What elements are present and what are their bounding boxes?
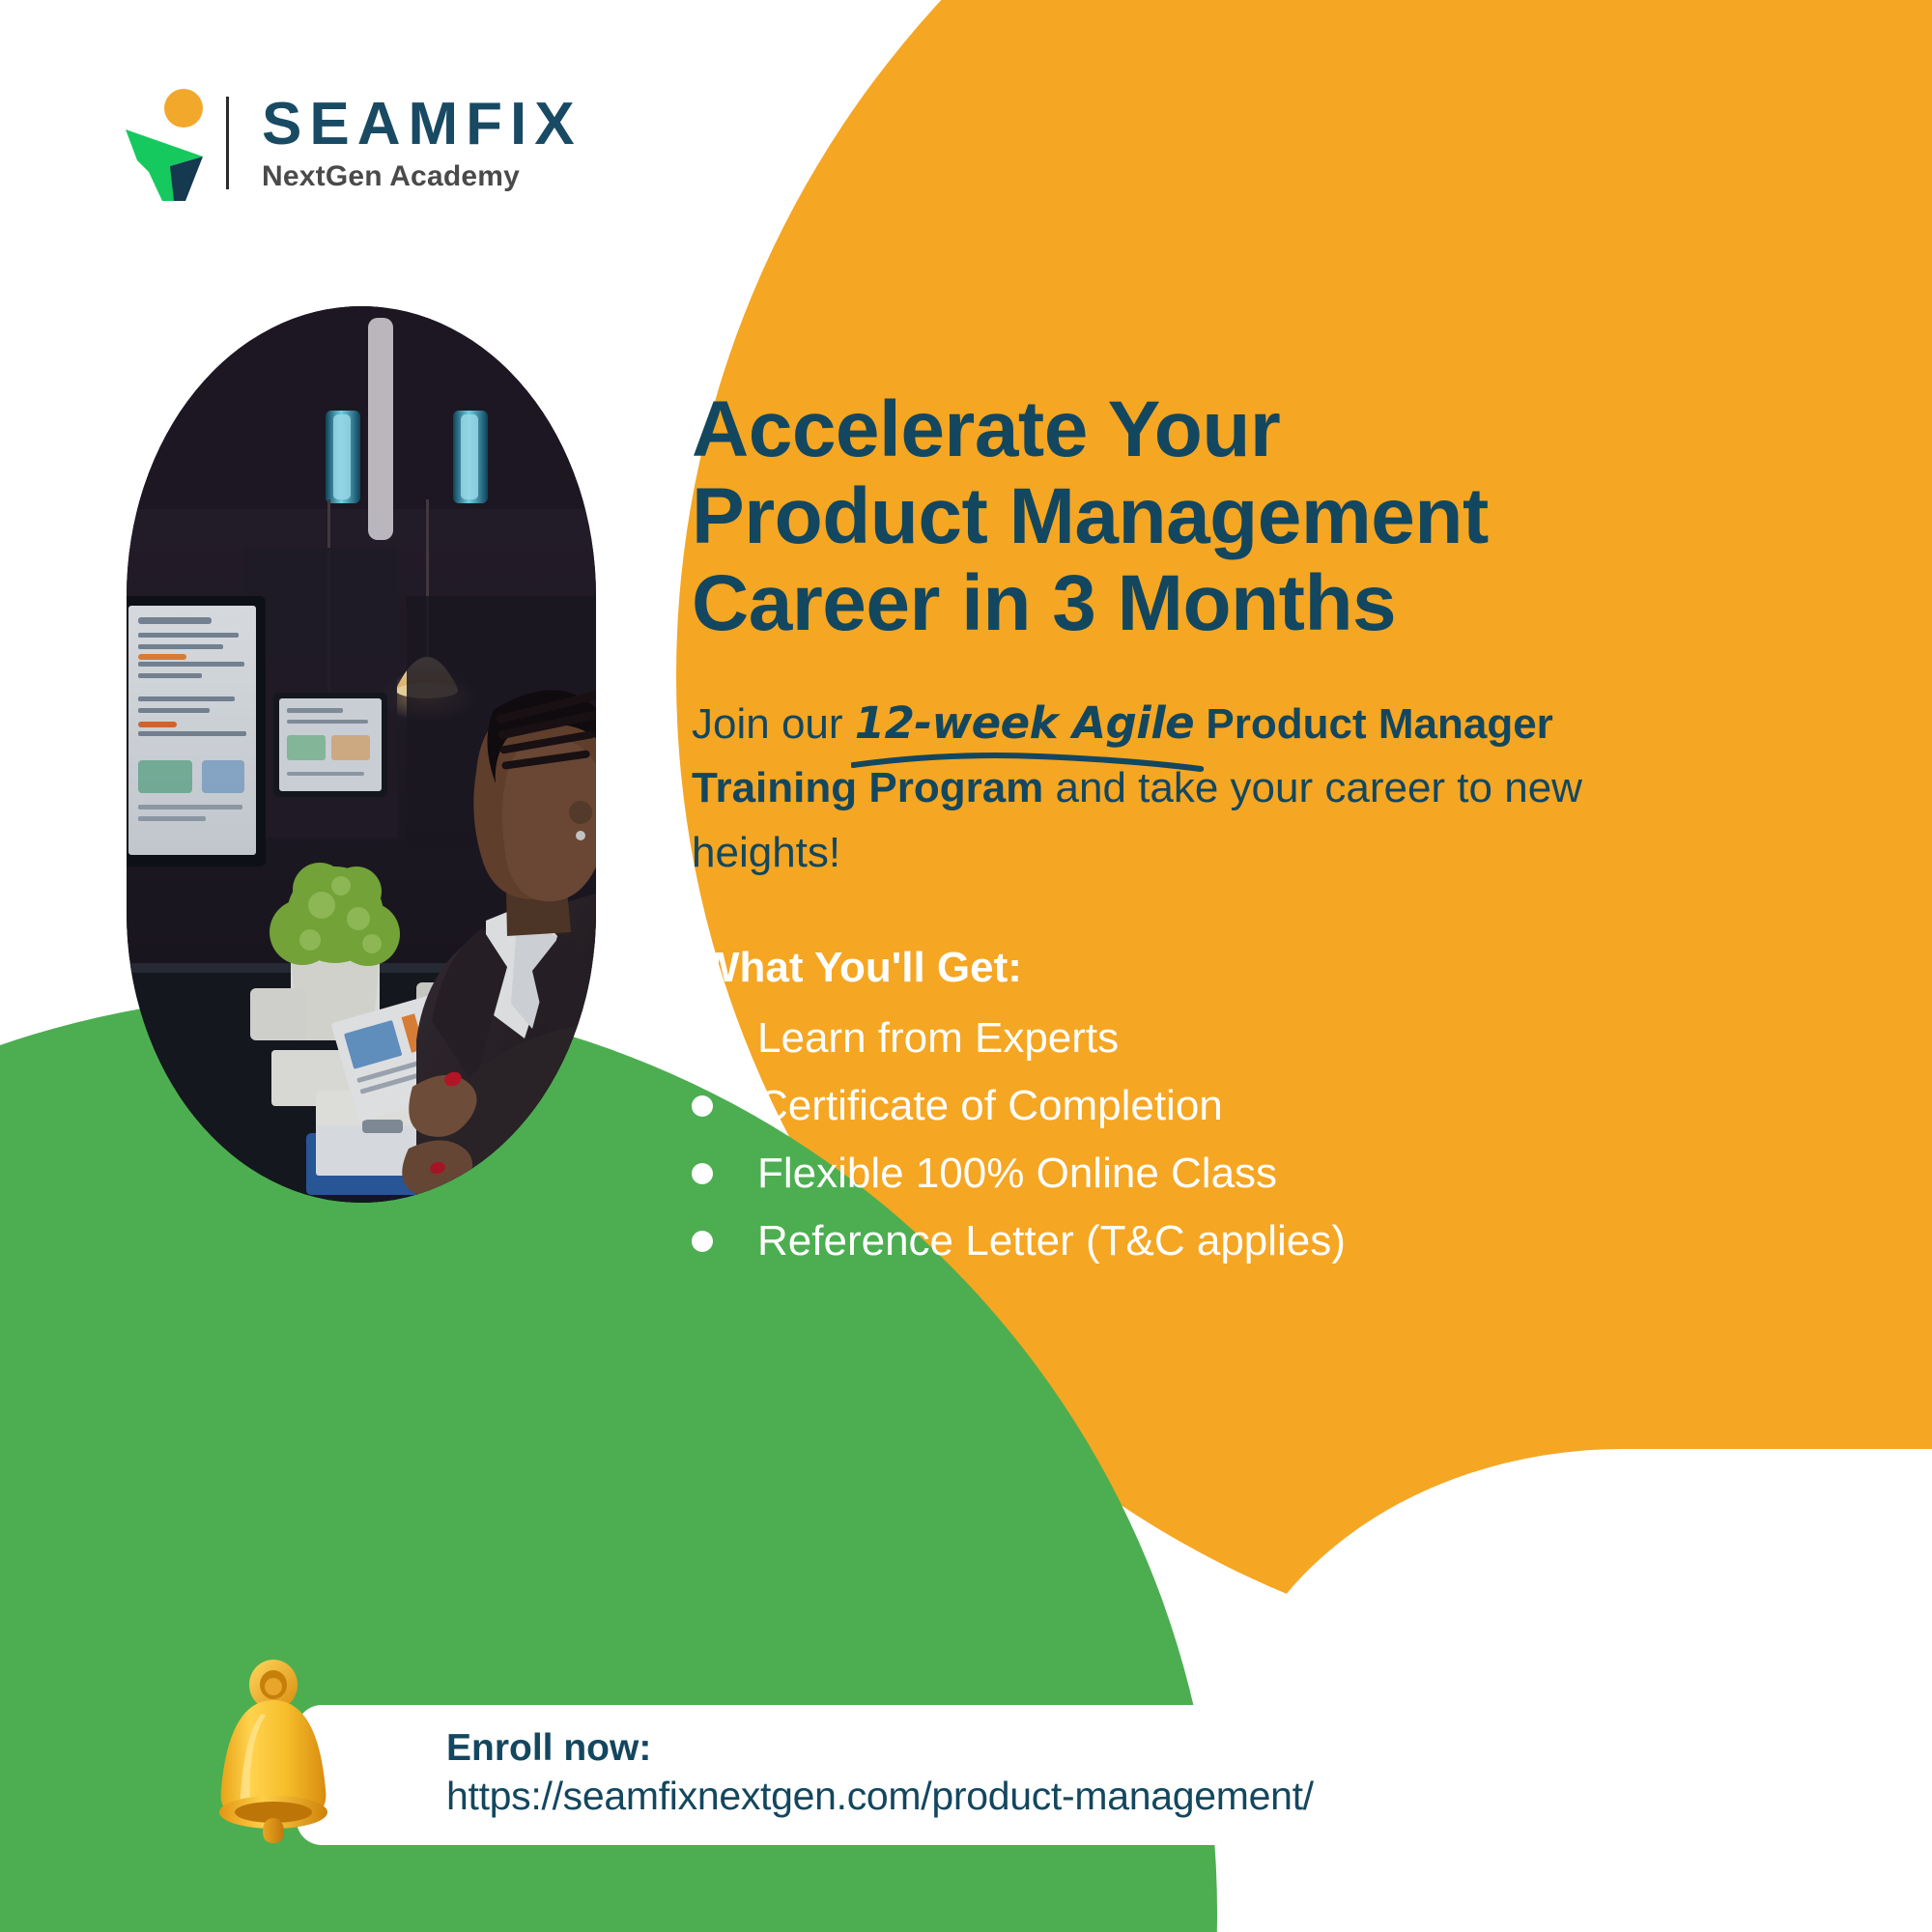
main-content: Accelerate Your Product Management Caree… — [692, 386, 1851, 1288]
list-item-label: Learn from Experts — [757, 1017, 1119, 1060]
script-highlight-wrap: 12-week Agile — [855, 691, 1194, 757]
logo-wordmark: SEAMFIX NextGen Academy — [262, 94, 582, 192]
bullet-dot-icon — [692, 1028, 713, 1049]
bullet-dot-icon — [692, 1163, 713, 1184]
hero-photo — [127, 306, 596, 1203]
list-item-label: Certificate of Completion — [757, 1085, 1223, 1127]
enroll-cta-bar[interactable]: Enroll now: https://seamfixnextgen.com/p… — [297, 1705, 1436, 1845]
lede-paragraph: Join our 12-week Agile Product Manager T… — [692, 691, 1619, 887]
list-item-label: Reference Letter (T&C applies) — [757, 1220, 1346, 1263]
benefits-title: What You'll Get: — [699, 944, 1851, 992]
bell-icon — [206, 1658, 346, 1851]
bullet-dot-icon — [692, 1231, 713, 1252]
list-item: Reference Letter (T&C applies) — [692, 1220, 1851, 1263]
promo-poster: SEAMFIX NextGen Academy — [0, 0, 1932, 1932]
brand-logo: SEAMFIX NextGen Academy — [120, 85, 582, 201]
logo-divider — [226, 97, 229, 189]
logo-title: SEAMFIX — [262, 94, 582, 155]
lede-prefix: Join our — [692, 700, 855, 748]
enroll-text-group: Enroll now: https://seamfixnextgen.com/p… — [446, 1727, 1314, 1822]
list-item-label: Flexible 100% Online Class — [757, 1152, 1277, 1195]
script-highlight: 12-week Agile — [855, 697, 1194, 749]
enroll-url-link[interactable]: https://seamfixnextgen.com/product-manag… — [446, 1771, 1314, 1822]
list-item: Flexible 100% Online Class — [692, 1152, 1851, 1195]
seamfix-logo-mark-icon — [120, 85, 209, 201]
list-item: Learn from Experts — [692, 1017, 1851, 1060]
benefits-list: Learn from Experts Certificate of Comple… — [692, 1017, 1851, 1263]
bullet-dot-icon — [692, 1095, 713, 1117]
page-title: Accelerate Your Product Management Caree… — [692, 386, 1851, 648]
enroll-label: Enroll now: — [446, 1727, 1314, 1771]
list-item: Certificate of Completion — [692, 1085, 1851, 1127]
logo-subtitle: NextGen Academy — [262, 160, 582, 192]
